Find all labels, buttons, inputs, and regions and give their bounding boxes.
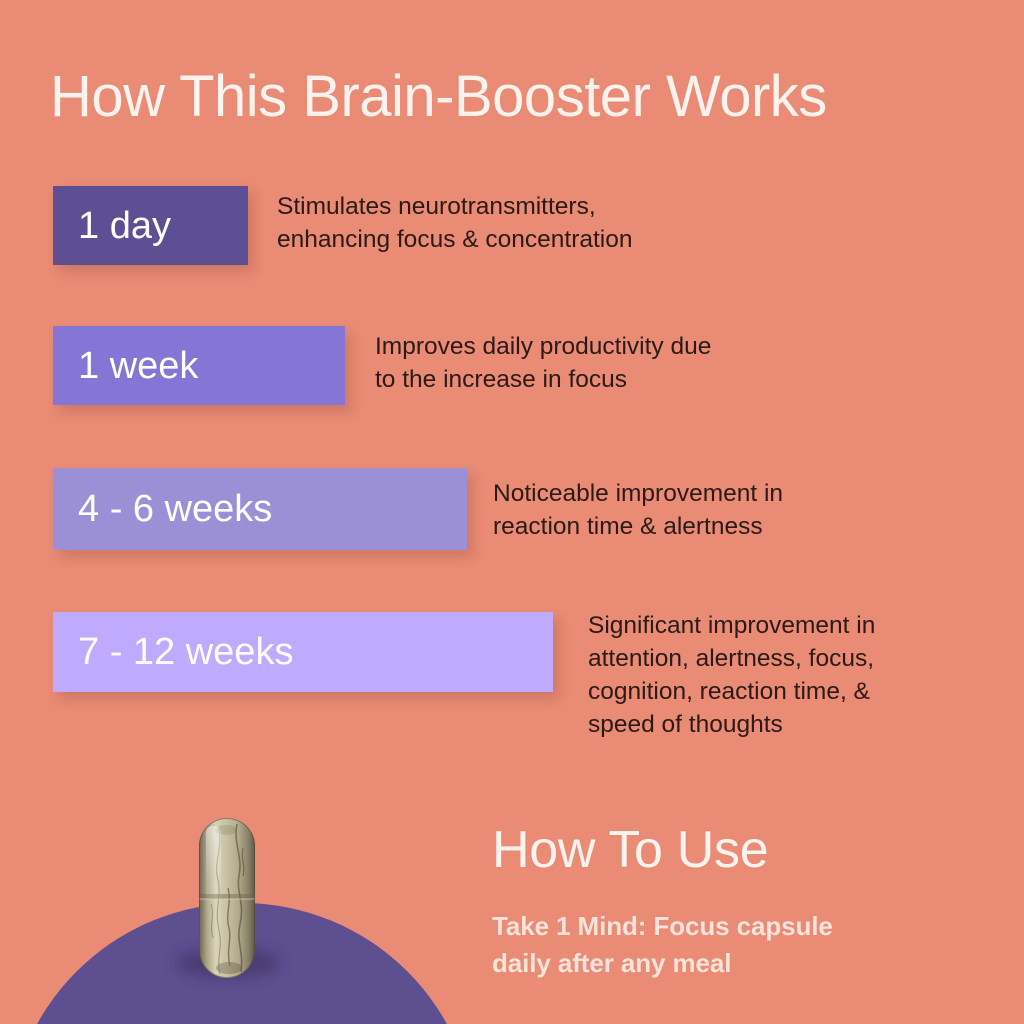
howto-title: How To Use [492,819,768,881]
infographic-canvas: How This Brain-Booster Works 1 day Stimu… [0,0,1024,1024]
duration-label: 7 - 12 weeks [78,632,293,672]
timeline-description: Noticeable improvement in reaction time … [493,477,783,543]
timeline-description: Stimulates neurotransmitters, enhancing … [277,190,633,256]
timeline-description: Improves daily productivity due to the i… [375,330,711,396]
duration-label: 4 - 6 weeks [78,489,272,529]
duration-bar-4-6-weeks: 4 - 6 weeks [53,468,467,550]
capsule-icon [199,818,255,978]
duration-bar-1-week: 1 week [53,326,345,405]
duration-label: 1 week [78,346,198,386]
duration-bar-1-day: 1 day [53,186,248,265]
howto-body: Take 1 Mind: Focus capsule daily after a… [492,908,833,982]
duration-bar-7-12-weeks: 7 - 12 weeks [53,612,553,692]
page-title: How This Brain-Booster Works [50,62,827,132]
timeline-description: Significant improvement in attention, al… [588,609,875,741]
duration-label: 1 day [78,206,171,246]
